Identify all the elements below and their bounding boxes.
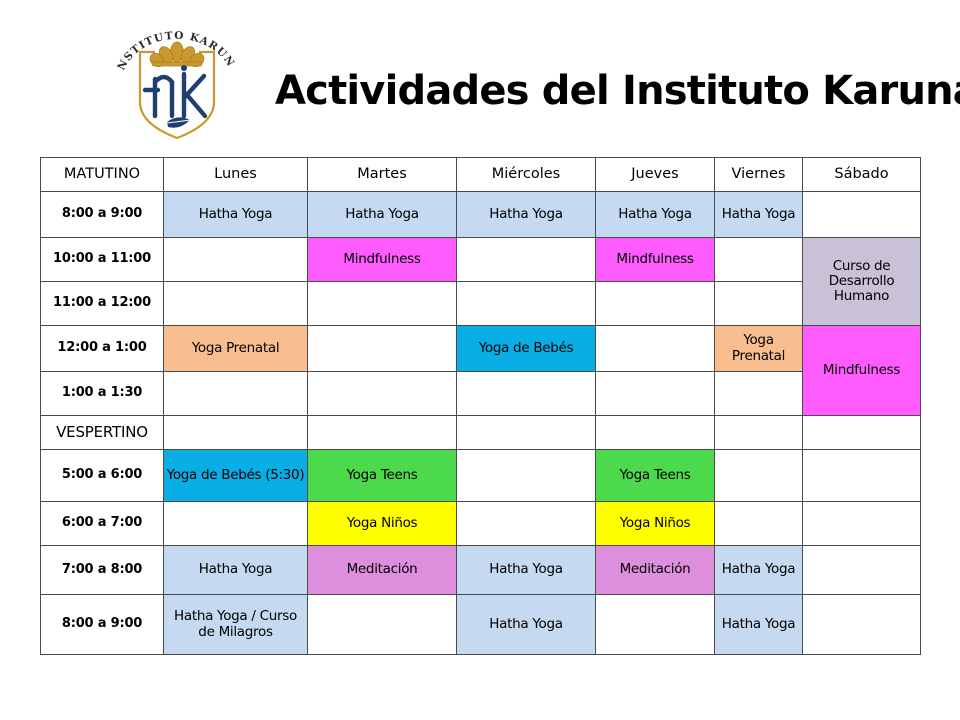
cell-lunes-1000[interactable]: [164, 238, 308, 282]
cell-martes-1100[interactable]: [308, 282, 457, 326]
cell-lunes-0700[interactable]: Hatha Yoga: [164, 546, 308, 595]
header-miercoles: Miércoles: [457, 158, 596, 192]
cell-sabado-0800-pm[interactable]: [803, 595, 921, 655]
cell-miercoles-1100[interactable]: [457, 282, 596, 326]
cell-viernes-0500[interactable]: [715, 450, 803, 502]
cell-martes-0600-yoga-ninos[interactable]: Yoga Niños: [308, 502, 457, 546]
cell-viernes-1200-yoga-prenatal[interactable]: Yoga Prenatal: [715, 326, 803, 372]
cell-jueves-vespertino[interactable]: [596, 416, 715, 450]
cell-jueves-0100[interactable]: [596, 372, 715, 416]
table-row: 8:00 a 9:00 Hatha Yoga / Curso de Milagr…: [41, 595, 921, 655]
cell-jueves-1000[interactable]: Mindfulness: [596, 238, 715, 282]
cell-sabado-curso-desarrollo-humano[interactable]: Curso de Desarrollo Humano: [803, 238, 921, 326]
cell-jueves-0500-yoga-teens[interactable]: Yoga Teens: [596, 450, 715, 502]
header-martes: Martes: [308, 158, 457, 192]
time-label-1000-1100: 10:00 a 11:00: [41, 238, 164, 282]
time-label-0500-0600: 5:00 a 6:00: [41, 450, 164, 502]
table-header-row: MATUTINO Lunes Martes Miércoles Jueves V…: [41, 158, 921, 192]
header-lunes: Lunes: [164, 158, 308, 192]
cell-miercoles-vespertino[interactable]: [457, 416, 596, 450]
time-label-0800-0900-am: 8:00 a 9:00: [41, 192, 164, 238]
page-header: INSTITUTO KARUNA: [0, 0, 960, 150]
cell-miercoles-0800[interactable]: Hatha Yoga: [457, 192, 596, 238]
cell-lunes-0600[interactable]: [164, 502, 308, 546]
time-label-0800-0900-pm: 8:00 a 9:00: [41, 595, 164, 655]
time-label-1200-0100: 12:00 a 1:00: [41, 326, 164, 372]
cell-lunes-1200-yoga-prenatal[interactable]: Yoga Prenatal: [164, 326, 308, 372]
cell-sabado-0800[interactable]: [803, 192, 921, 238]
instituto-karuna-logo: INSTITUTO KARUNA: [112, 24, 242, 144]
cell-lunes-0800-pm[interactable]: Hatha Yoga / Curso de Milagros: [164, 595, 308, 655]
time-label-0100-0130: 1:00 a 1:30: [41, 372, 164, 416]
cell-miercoles-0500[interactable]: [457, 450, 596, 502]
header-jueves: Jueves: [596, 158, 715, 192]
activities-schedule-table: MATUTINO Lunes Martes Miércoles Jueves V…: [40, 157, 921, 655]
cell-viernes-0800-pm[interactable]: Hatha Yoga: [715, 595, 803, 655]
cell-jueves-1100[interactable]: [596, 282, 715, 326]
cell-jueves-0800[interactable]: Hatha Yoga: [596, 192, 715, 238]
table-row: 10:00 a 11:00 Mindfulness Mindfulness Cu…: [41, 238, 921, 282]
cell-lunes-vespertino[interactable]: [164, 416, 308, 450]
cell-jueves-1200[interactable]: [596, 326, 715, 372]
cell-viernes-0600[interactable]: [715, 502, 803, 546]
cell-miercoles-0600[interactable]: [457, 502, 596, 546]
time-label-1100-1200: 11:00 a 12:00: [41, 282, 164, 326]
cell-viernes-1000[interactable]: [715, 238, 803, 282]
cell-miercoles-1000[interactable]: [457, 238, 596, 282]
cell-viernes-vespertino[interactable]: [715, 416, 803, 450]
page-title: Actividades del Instituto Karuna: [275, 60, 935, 122]
section-label-vespertino: VESPERTINO: [41, 416, 164, 450]
cell-sabado-0700[interactable]: [803, 546, 921, 595]
cell-sabado-vespertino[interactable]: [803, 416, 921, 450]
cell-sabado-mindfulness[interactable]: Mindfulness: [803, 326, 921, 416]
cell-jueves-0600-yoga-ninos[interactable]: Yoga Niños: [596, 502, 715, 546]
table-row: 6:00 a 7:00 Yoga Niños Yoga Niños: [41, 502, 921, 546]
table-row: 7:00 a 8:00 Hatha Yoga Meditación Hatha …: [41, 546, 921, 595]
cell-miercoles-0700[interactable]: Hatha Yoga: [457, 546, 596, 595]
section-row-vespertino: VESPERTINO: [41, 416, 921, 450]
header-matutino: MATUTINO: [41, 158, 164, 192]
cell-lunes-0800[interactable]: Hatha Yoga: [164, 192, 308, 238]
cell-martes-0800[interactable]: Hatha Yoga: [308, 192, 457, 238]
cell-miercoles-0800-pm[interactable]: Hatha Yoga: [457, 595, 596, 655]
cell-martes-0100[interactable]: [308, 372, 457, 416]
cell-jueves-0800-pm[interactable]: [596, 595, 715, 655]
time-label-0700-0800: 7:00 a 8:00: [41, 546, 164, 595]
cell-viernes-0800[interactable]: Hatha Yoga: [715, 192, 803, 238]
cell-viernes-1100[interactable]: [715, 282, 803, 326]
cell-martes-1200[interactable]: [308, 326, 457, 372]
table-row: 1:00 a 1:30: [41, 372, 921, 416]
cell-martes-vespertino[interactable]: [308, 416, 457, 450]
table-row: 5:00 a 6:00 Yoga de Bebés (5:30) Yoga Te…: [41, 450, 921, 502]
cell-sabado-0600[interactable]: [803, 502, 921, 546]
cell-martes-0500-yoga-teens[interactable]: Yoga Teens: [308, 450, 457, 502]
cell-martes-0800-pm[interactable]: [308, 595, 457, 655]
cell-viernes-0100[interactable]: [715, 372, 803, 416]
time-label-0600-0700: 6:00 a 7:00: [41, 502, 164, 546]
cell-lunes-1100[interactable]: [164, 282, 308, 326]
cell-martes-1000[interactable]: Mindfulness: [308, 238, 457, 282]
cell-miercoles-1200-yoga-de-bebes[interactable]: Yoga de Bebés: [457, 326, 596, 372]
cell-lunes-0100[interactable]: [164, 372, 308, 416]
cell-viernes-0700[interactable]: Hatha Yoga: [715, 546, 803, 595]
cell-miercoles-0100[interactable]: [457, 372, 596, 416]
schedule-page: INSTITUTO KARUNA: [0, 0, 960, 720]
table-row: 11:00 a 12:00: [41, 282, 921, 326]
header-viernes: Viernes: [715, 158, 803, 192]
cell-sabado-0500[interactable]: [803, 450, 921, 502]
cell-jueves-0700-meditacion[interactable]: Meditación: [596, 546, 715, 595]
table-row: 12:00 a 1:00 Yoga Prenatal Yoga de Bebés…: [41, 326, 921, 372]
table-row: 8:00 a 9:00 Hatha Yoga Hatha Yoga Hatha …: [41, 192, 921, 238]
header-sabado: Sábado: [803, 158, 921, 192]
cell-martes-0700-meditacion[interactable]: Meditación: [308, 546, 457, 595]
cell-lunes-0500-yoga-de-bebes[interactable]: Yoga de Bebés (5:30): [164, 450, 308, 502]
logo-shield-icon: INSTITUTO KARUNA: [112, 24, 242, 144]
